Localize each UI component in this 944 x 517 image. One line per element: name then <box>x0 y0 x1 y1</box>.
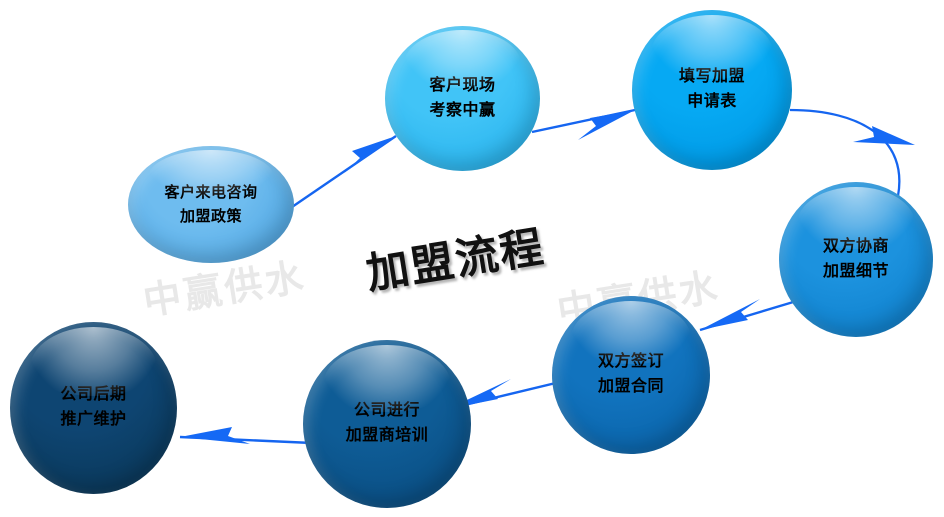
flow-node-step-5-line-1: 双方签订 <box>598 350 664 375</box>
connector-1-to-2 <box>292 136 396 207</box>
flow-node-step-3-line-1: 填写加盟 <box>679 65 745 90</box>
flow-node-step-2-line-2: 考察中赢 <box>429 99 495 124</box>
flow-node-step-6-line-1: 公司进行 <box>354 399 420 424</box>
flow-node-step-6-line-2: 加盟商培训 <box>346 424 429 449</box>
connector-6-to-7 <box>180 427 312 444</box>
flow-node-step-1-line-1: 客户来电咨询 <box>164 181 257 204</box>
flow-node-step-3-line-2: 申请表 <box>687 90 737 115</box>
flow-node-step-2[interactable]: 客户现场 考察中赢 <box>385 26 540 171</box>
flow-node-step-5-line-2: 加盟合同 <box>598 375 664 400</box>
flow-node-step-7[interactable]: 公司后期 推广维护 <box>10 322 177 494</box>
flow-node-step-3[interactable]: 填写加盟 申请表 <box>632 10 792 170</box>
flow-node-step-7-line-2: 推广维护 <box>60 408 126 433</box>
flow-node-step-2-line-1: 客户现场 <box>429 74 495 99</box>
flow-node-step-7-line-1: 公司后期 <box>60 383 126 408</box>
flow-node-step-4[interactable]: 双方协商 加盟细节 <box>779 182 933 337</box>
connector-2-to-3 <box>532 110 635 140</box>
flow-node-step-6[interactable]: 公司进行 加盟商培训 <box>303 340 471 508</box>
flow-node-step-1[interactable]: 客户来电咨询 加盟政策 <box>128 146 294 263</box>
flow-node-step-4-line-2: 加盟细节 <box>823 260 889 285</box>
diagram-title: 加盟流程 <box>361 212 548 301</box>
flow-node-step-4-line-1: 双方协商 <box>823 235 889 260</box>
flow-node-step-1-line-2: 加盟政策 <box>180 205 242 228</box>
flowchart-canvas: 中赢供水 中赢供水 客户来电咨询 加盟政策 客户现场 考察中赢 填写加盟 申请表… <box>0 0 944 517</box>
flow-node-step-5[interactable]: 双方签订 加盟合同 <box>552 296 710 454</box>
